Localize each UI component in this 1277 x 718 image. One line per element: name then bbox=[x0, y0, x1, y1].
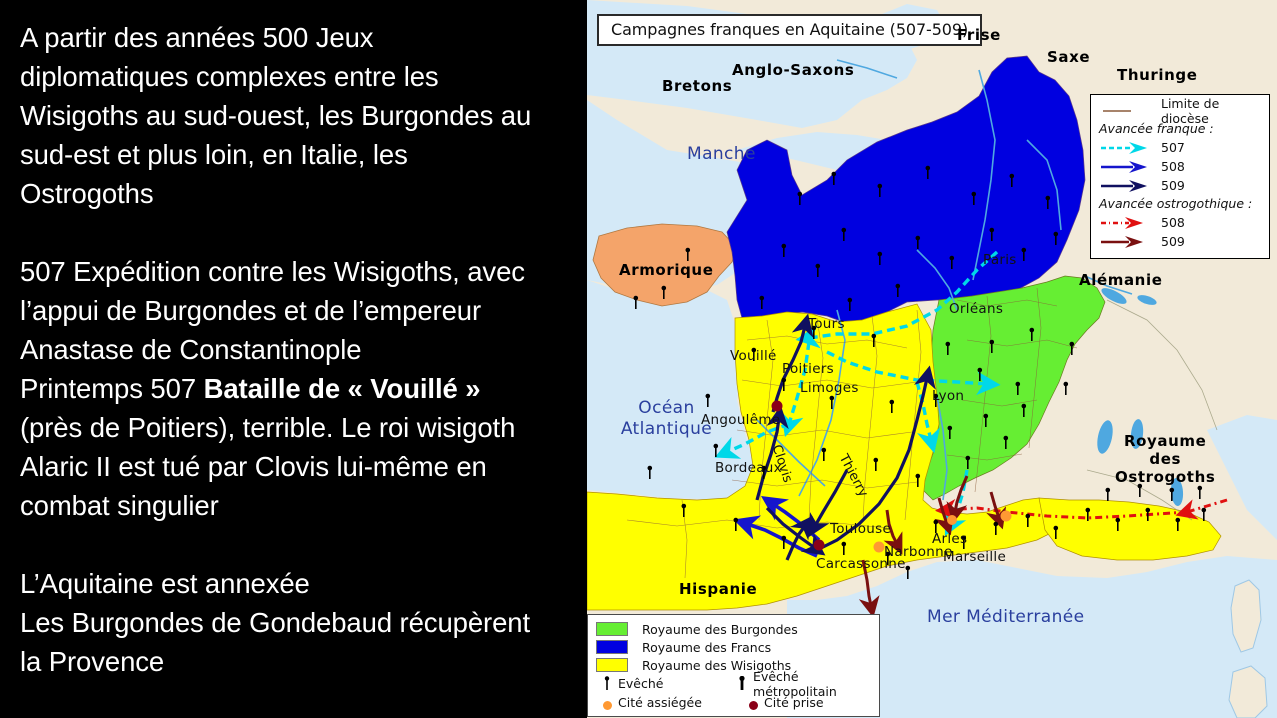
legend-cite-assiegee-label: Cité assiégée bbox=[618, 695, 728, 710]
text-line: Wisigoths au sud-ouest, les Burgondes au bbox=[20, 96, 571, 135]
map-title-box: Campagnes franques en Aquitaine (507-509… bbox=[597, 14, 982, 46]
besieged-city-arles bbox=[1001, 511, 1012, 522]
text-line: Alaric II est tué par Clovis lui-même en bbox=[20, 447, 571, 486]
swatch-burgondes bbox=[596, 622, 628, 636]
swatch-francs bbox=[596, 640, 628, 654]
taken-city-icon bbox=[742, 695, 764, 711]
text-line: l’appui de Burgondes et de l’empereur bbox=[20, 291, 571, 330]
arrow-508-icon bbox=[1099, 159, 1161, 175]
paragraph-2: 507 Expédition contre les Wisigoths, ave… bbox=[20, 252, 571, 369]
legend-francs-label: Royaume des Francs bbox=[642, 640, 771, 655]
legend-row-burgondes: Royaume des Burgondes bbox=[596, 620, 873, 638]
arrow-ostro-509-icon bbox=[1099, 234, 1161, 250]
besieged-city-icon bbox=[596, 695, 618, 711]
taken-city-angouleme bbox=[772, 401, 783, 412]
text-line: Les Burgondes de Gondebaud récupèrent bbox=[20, 603, 571, 642]
text-line: 507 Expédition contre les Wisigoths, ave… bbox=[20, 252, 571, 291]
paragraph-4: L’Aquitaine est annexée Les Burgondes de… bbox=[20, 564, 571, 681]
legend-row-bishoprics: Evêché Evêché métropolitain bbox=[596, 674, 873, 693]
battle-bold: Bataille de « Vouillé » bbox=[204, 373, 481, 404]
text-line: la Provence bbox=[20, 642, 571, 681]
legend-cite-prise-label: Cité prise bbox=[764, 695, 824, 710]
text-line: Anastase de Constantinople bbox=[20, 330, 571, 369]
text-panel: A partir des années 500 Jeux diplomatiqu… bbox=[0, 0, 585, 718]
legend-row-509-ostro: 509 bbox=[1099, 232, 1261, 251]
legend-row-francs: Royaume des Francs bbox=[596, 638, 873, 656]
legend-eveche-metropolitain-label: Evêché métropolitain bbox=[753, 669, 873, 699]
besieged-city-marseille bbox=[947, 515, 957, 525]
paragraph-3: Printemps 507 Bataille de « Vouillé » (p… bbox=[20, 369, 571, 525]
legend-eveche-label: Evêché bbox=[618, 676, 717, 691]
arrow-ostro-508-icon bbox=[1099, 215, 1161, 231]
bishopric-icon bbox=[596, 676, 618, 692]
swatch-wisigoths bbox=[596, 658, 628, 672]
paragraph-1: A partir des années 500 Jeux diplomatiqu… bbox=[20, 18, 571, 213]
metropolitan-bishopric-icon bbox=[731, 676, 753, 692]
legend-burgondes-label: Royaume des Burgondes bbox=[642, 622, 798, 637]
legend-row-508-ostro: 508 bbox=[1099, 213, 1261, 232]
legend-kingdoms: Royaume des Burgondes Royaume des Francs… bbox=[587, 614, 880, 717]
diocese-line-icon bbox=[1099, 103, 1161, 119]
legend-row-507: 507 bbox=[1099, 138, 1261, 157]
text-line: diplomatiques complexes entre les bbox=[20, 57, 571, 96]
legend-row-508-frank: 508 bbox=[1099, 157, 1261, 176]
legend-row-509-frank: 509 bbox=[1099, 176, 1261, 195]
text-line: (près de Poitiers), terrible. Le roi wis… bbox=[20, 408, 571, 447]
text-line: A partir des années 500 Jeux bbox=[20, 18, 571, 57]
taken-city-carcassonne bbox=[814, 540, 825, 551]
legend-509-ostro-label: 509 bbox=[1161, 234, 1185, 249]
legend-509-frank-label: 509 bbox=[1161, 178, 1185, 193]
battle-prefix: Printemps 507 bbox=[20, 373, 204, 404]
text-line: L’Aquitaine est annexée bbox=[20, 564, 571, 603]
legend-507-label: 507 bbox=[1161, 140, 1185, 155]
arrow-509-icon bbox=[1099, 178, 1161, 194]
text-line-battle: Printemps 507 Bataille de « Vouillé » bbox=[20, 369, 571, 408]
besieged-city-narbonne bbox=[874, 542, 885, 553]
arrow-507-icon bbox=[1099, 140, 1161, 156]
legend-advances: Limite de diocèse Avancée franque : 507 bbox=[1090, 94, 1270, 259]
text-line: combat singulier bbox=[20, 486, 571, 525]
legend-508-frank-label: 508 bbox=[1161, 159, 1185, 174]
text-line: sud-est et plus loin, en Italie, les bbox=[20, 135, 571, 174]
text-line: Ostrogoths bbox=[20, 174, 571, 213]
legend-508-ostro-label: 508 bbox=[1161, 215, 1185, 230]
map-image: Campagnes franques en Aquitaine (507-509… bbox=[587, 0, 1277, 718]
legend-header-ostrogoth: Avancée ostrogothique : bbox=[1099, 195, 1261, 213]
legend-row-diocese: Limite de diocèse bbox=[1099, 101, 1261, 120]
map-title: Campagnes franques en Aquitaine (507-509… bbox=[611, 20, 968, 39]
slide-root: A partir des années 500 Jeux diplomatiqu… bbox=[0, 0, 1277, 718]
